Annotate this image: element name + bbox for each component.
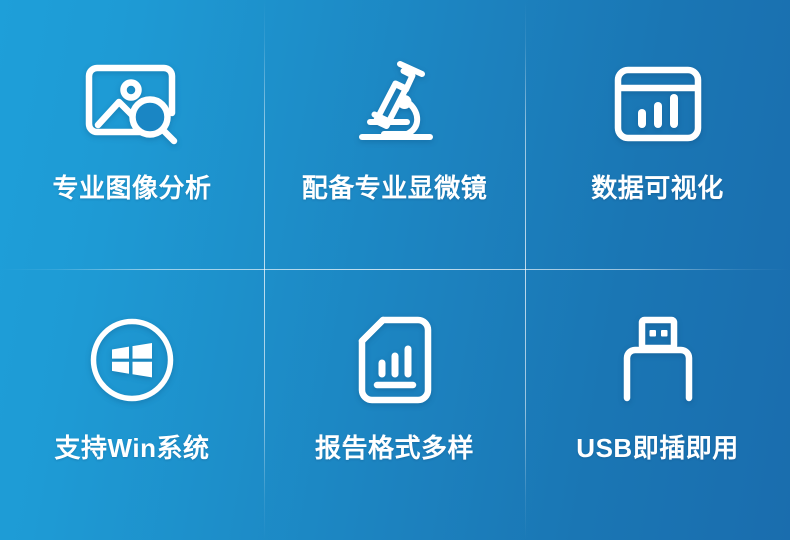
chart-window-icon xyxy=(602,56,714,152)
feature-label: 专业图像分析 xyxy=(52,174,211,203)
feature-cell-report-formats[interactable]: 报告格式多样 xyxy=(264,270,525,540)
feature-label: 配备专业显微镜 xyxy=(302,174,488,203)
feature-cell-usb-plug-and-play[interactable]: USB即插即用 xyxy=(525,270,790,540)
feature-banner: 专业图像分析 xyxy=(0,0,790,540)
image-search-icon xyxy=(76,56,188,152)
feature-cell-microscope[interactable]: 配备专业显微镜 xyxy=(264,0,525,270)
feature-label: 数据可视化 xyxy=(591,174,724,203)
feature-cell-image-analysis[interactable]: 专业图像分析 xyxy=(0,0,264,270)
feature-cell-windows-support[interactable]: 支持Win系统 xyxy=(0,270,264,540)
feature-label: USB即插即用 xyxy=(576,434,738,463)
usb-connector-icon xyxy=(602,312,714,408)
feature-cell-data-visualization[interactable]: 数据可视化 xyxy=(525,0,790,270)
feature-label: 报告格式多样 xyxy=(315,434,474,463)
document-chart-icon xyxy=(339,312,451,408)
feature-grid: 专业图像分析 xyxy=(0,0,790,540)
windows-logo-icon xyxy=(76,312,188,408)
microscope-icon xyxy=(339,56,451,152)
feature-label: 支持Win系统 xyxy=(55,434,210,463)
